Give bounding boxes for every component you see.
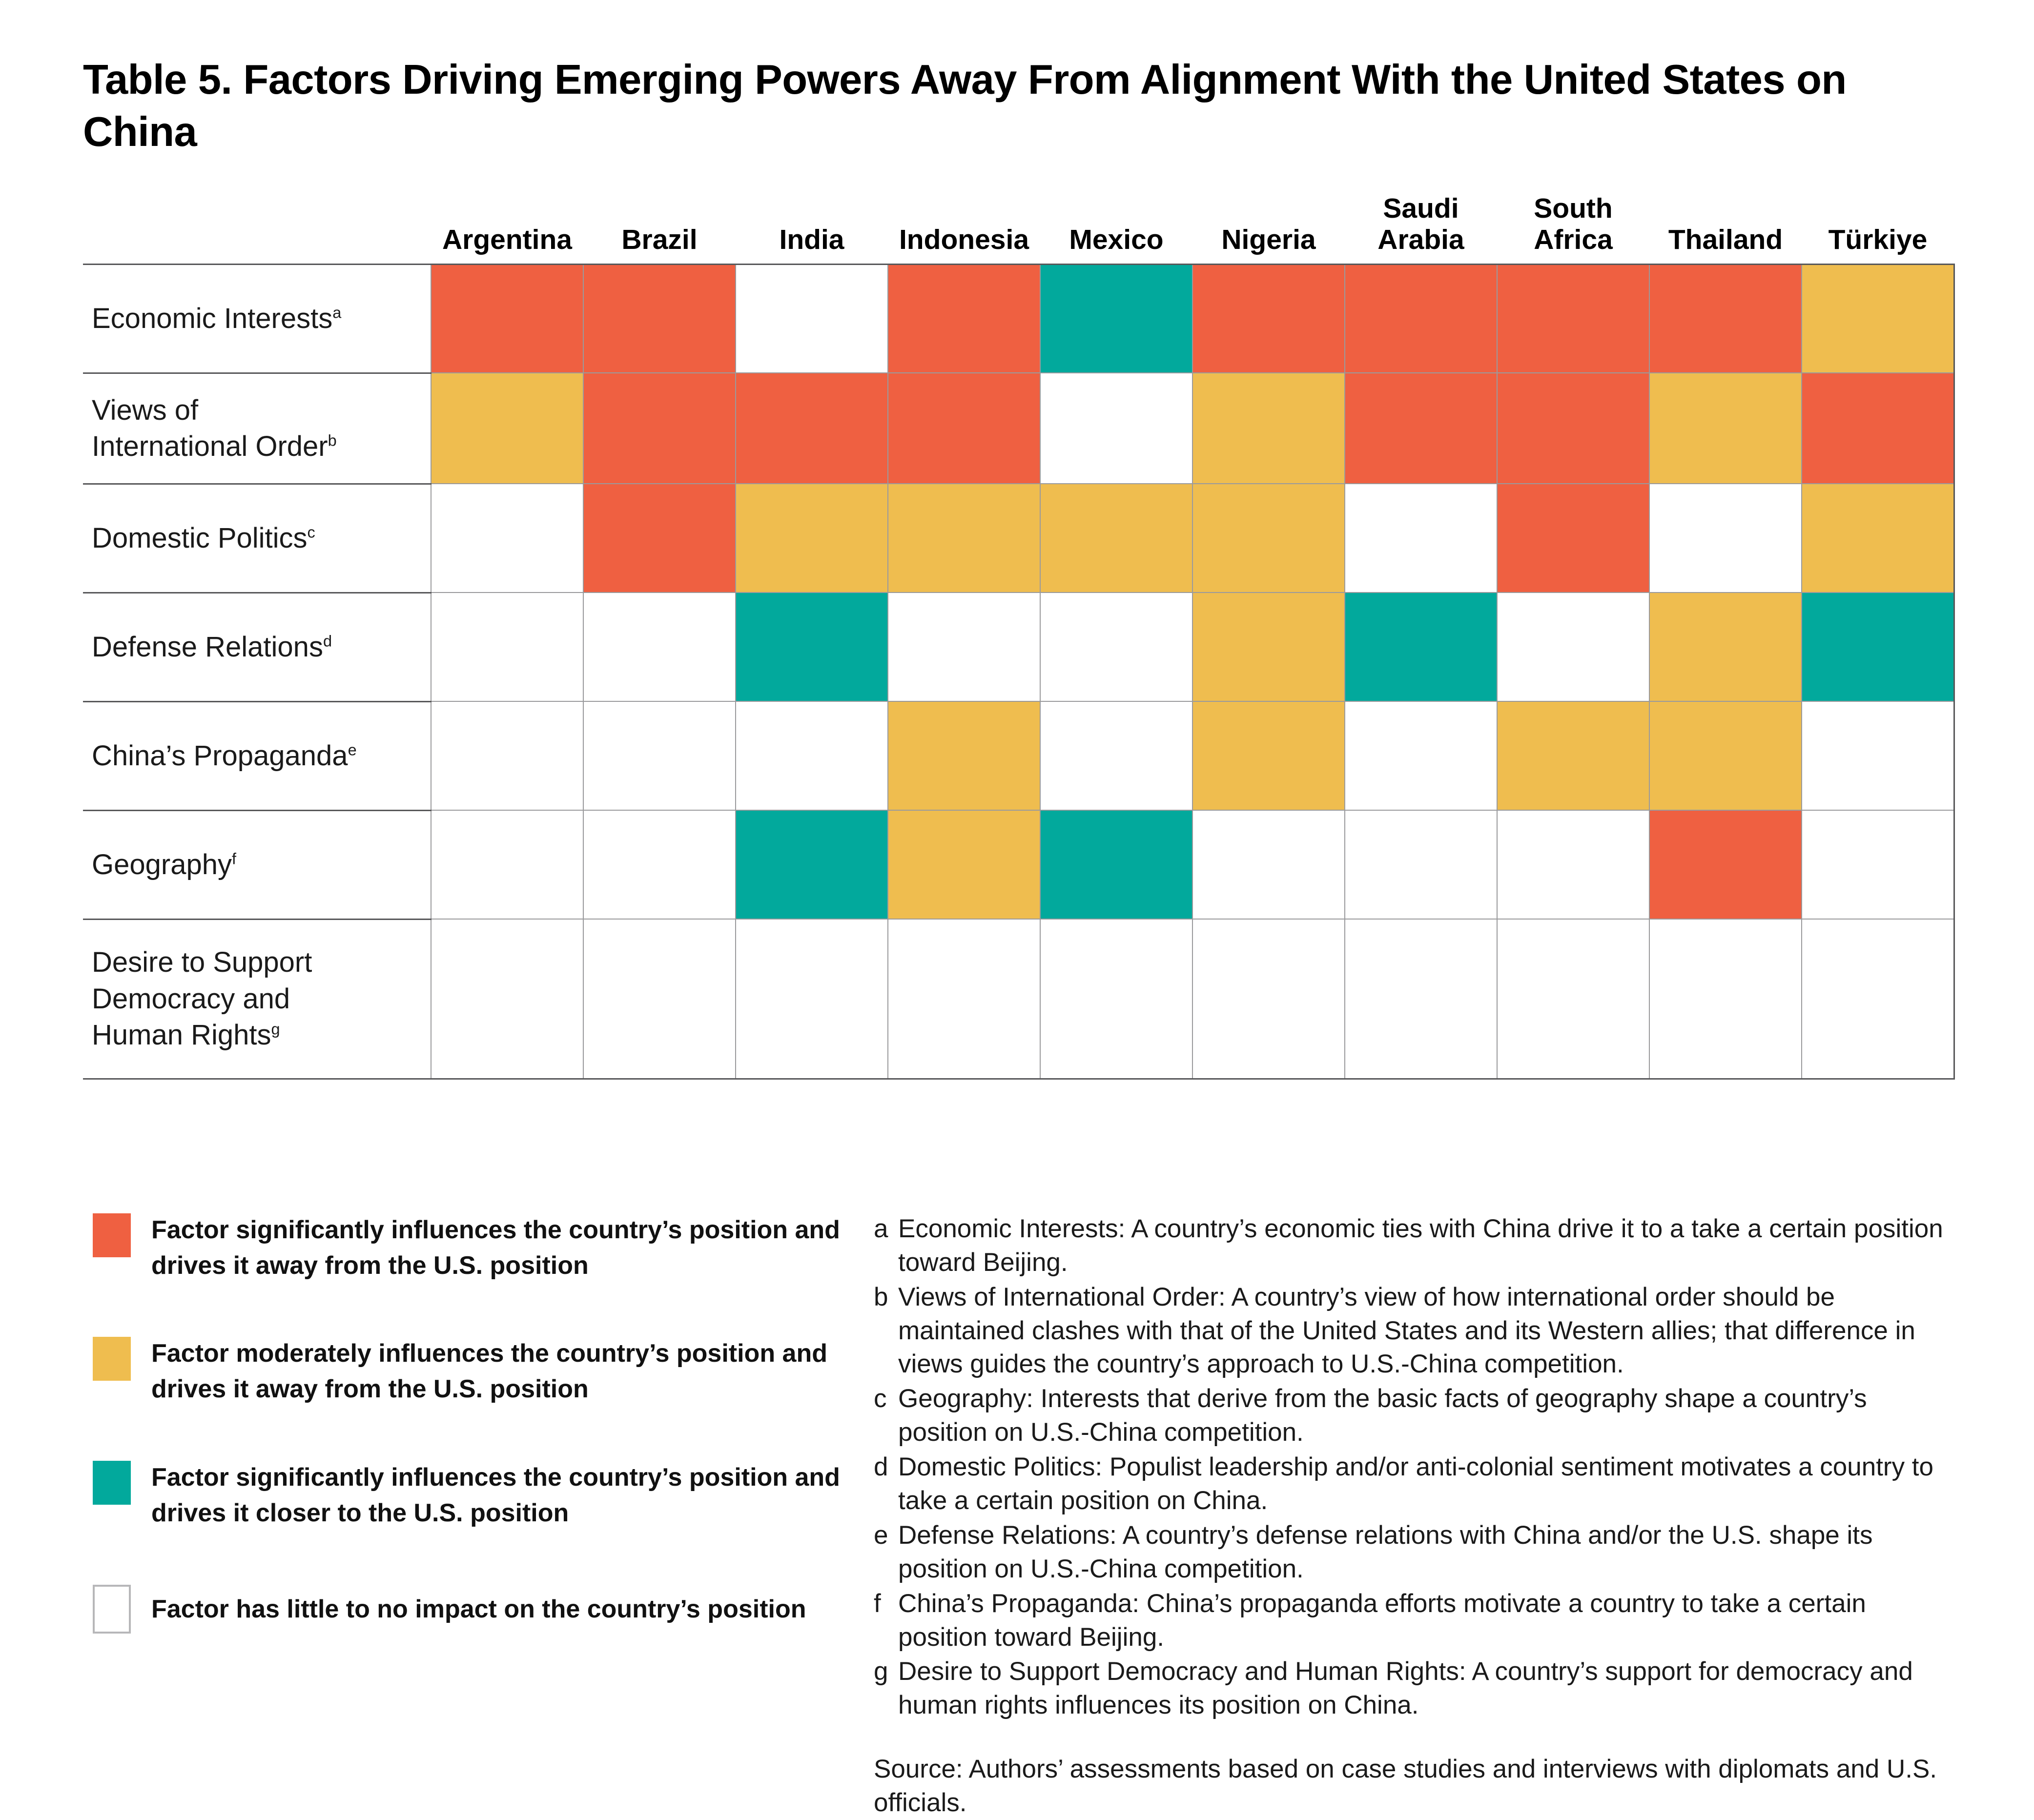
legend-item-significant-closer: Factor significantly influences the coun… bbox=[93, 1459, 844, 1531]
row-footnote-marker: e bbox=[348, 741, 357, 758]
legend-item-none: Factor has little to no impact on the co… bbox=[93, 1583, 844, 1634]
matrix-cell bbox=[1649, 810, 1802, 919]
matrix-cell bbox=[583, 701, 736, 810]
footnote-a: aEconomic Interests: A country’s economi… bbox=[874, 1212, 1951, 1280]
matrix-cell bbox=[1192, 919, 1345, 1079]
matrix-cell bbox=[888, 264, 1040, 373]
table-row: Views ofInternational Orderb bbox=[83, 373, 1954, 484]
header-corner bbox=[83, 193, 431, 264]
table-body: Economic InterestsaViews ofInternational… bbox=[83, 264, 1954, 1079]
footnote-text: Defense Relations: A country’s defense r… bbox=[898, 1519, 1951, 1586]
matrix-cell bbox=[736, 593, 888, 701]
matrix-cell bbox=[1497, 264, 1649, 373]
matrix-cell bbox=[1040, 701, 1192, 810]
matrix-cell bbox=[888, 919, 1040, 1079]
row-label-defense-relations: Defense Relationsd bbox=[83, 593, 431, 701]
row-footnote-marker: b bbox=[328, 432, 337, 450]
matrix-cell bbox=[1192, 264, 1345, 373]
matrix-cell bbox=[583, 919, 736, 1079]
matrix-cell bbox=[1497, 484, 1649, 593]
matrix-cell bbox=[1497, 373, 1649, 484]
table-row: Geographyf bbox=[83, 810, 1954, 919]
row-label-economic-interests: Economic Interestsa bbox=[83, 264, 431, 373]
lower-section: Factor significantly influences the coun… bbox=[83, 1211, 1951, 1820]
matrix-cell bbox=[1192, 484, 1345, 593]
matrix-cell bbox=[736, 373, 888, 484]
matrix-cell bbox=[888, 373, 1040, 484]
matrix-cell bbox=[583, 264, 736, 373]
matrix-cell bbox=[1192, 373, 1345, 484]
footnote-key: a bbox=[874, 1212, 898, 1280]
matrix-cell bbox=[1345, 810, 1497, 919]
row-footnote-marker: f bbox=[232, 850, 236, 867]
column-header-mexico: Mexico bbox=[1040, 193, 1192, 264]
matrix-cell bbox=[736, 264, 888, 373]
footnote-text: China’s Propaganda: China’s propaganda e… bbox=[898, 1587, 1951, 1655]
legend-swatch-none bbox=[93, 1585, 131, 1634]
legend-label: Factor significantly influences the coun… bbox=[151, 1459, 844, 1531]
matrix-cell bbox=[431, 919, 583, 1079]
matrix-cell bbox=[583, 593, 736, 701]
footnote-f: fChina’s Propaganda: China’s propaganda … bbox=[874, 1587, 1951, 1655]
row-label-desire-to-support: Desire to SupportDemocracy andHuman Righ… bbox=[83, 919, 431, 1079]
matrix-cell bbox=[1040, 264, 1192, 373]
footnote-text: Views of International Order: A country’… bbox=[898, 1281, 1951, 1382]
matrix-cell bbox=[736, 484, 888, 593]
footnote-g: gDesire to Support Democracy and Human R… bbox=[874, 1655, 1951, 1722]
footnote-text: Domestic Politics: Populist leadership a… bbox=[898, 1451, 1951, 1518]
matrix-cell bbox=[1345, 593, 1497, 701]
matrix-cell bbox=[1345, 484, 1497, 593]
matrix-cell bbox=[1345, 373, 1497, 484]
row-footnote-marker: c bbox=[308, 523, 315, 541]
footnote-key: c bbox=[874, 1382, 898, 1450]
table-row: Defense Relationsd bbox=[83, 593, 1954, 701]
row-label-views-of: Views ofInternational Orderb bbox=[83, 373, 431, 484]
row-label-domestic-politics: Domestic Politicsc bbox=[83, 484, 431, 593]
footnote-d: dDomestic Politics: Populist leadership … bbox=[874, 1451, 1951, 1518]
footnote-text: Desire to Support Democracy and Human Ri… bbox=[898, 1655, 1951, 1722]
matrix-cell bbox=[1040, 484, 1192, 593]
matrix-cell bbox=[1802, 264, 1954, 373]
matrix-cell bbox=[1802, 919, 1954, 1079]
matrix-cell bbox=[1649, 373, 1802, 484]
legend-label: Factor significantly influences the coun… bbox=[151, 1211, 844, 1284]
footnote-text: Geography: Interests that derive from th… bbox=[898, 1382, 1951, 1450]
matrix-cell bbox=[1497, 810, 1649, 919]
matrix-cell bbox=[888, 593, 1040, 701]
table-header: ArgentinaBrazilIndiaIndonesiaMexicoNiger… bbox=[83, 193, 1954, 264]
column-header-south-africa: South Africa bbox=[1497, 193, 1649, 264]
column-header-argentina: Argentina bbox=[431, 193, 583, 264]
footnotes: aEconomic Interests: A country’s economi… bbox=[844, 1211, 1951, 1820]
matrix-cell bbox=[1345, 264, 1497, 373]
matrix-cell bbox=[888, 701, 1040, 810]
matrix-cell bbox=[431, 593, 583, 701]
footnote-key: b bbox=[874, 1281, 898, 1382]
matrix-cell bbox=[1345, 919, 1497, 1079]
footnote-key: f bbox=[874, 1587, 898, 1655]
row-footnote-marker: a bbox=[332, 304, 341, 321]
matrix-cell bbox=[1802, 484, 1954, 593]
column-header-saudi-arabia: Saudi Arabia bbox=[1345, 193, 1497, 264]
footnote-e: eDefense Relations: A country’s defense … bbox=[874, 1519, 1951, 1586]
matrix-cell bbox=[736, 701, 888, 810]
matrix-cell bbox=[1649, 919, 1802, 1079]
matrix-cell bbox=[1345, 701, 1497, 810]
table-row: Domestic Politicsc bbox=[83, 484, 1954, 593]
footnote-key: e bbox=[874, 1519, 898, 1586]
legend-label: Factor moderately influences the country… bbox=[151, 1335, 844, 1407]
column-header-nigeria: Nigeria bbox=[1192, 193, 1345, 264]
legend-item-significant-away: Factor significantly influences the coun… bbox=[93, 1211, 844, 1284]
matrix-cell bbox=[431, 373, 583, 484]
row-label-geography: Geographyf bbox=[83, 810, 431, 919]
matrix-cell bbox=[1192, 701, 1345, 810]
footnote-key: g bbox=[874, 1655, 898, 1722]
matrix-cell bbox=[583, 810, 736, 919]
matrix-cell bbox=[1649, 701, 1802, 810]
column-header-india: India bbox=[736, 193, 888, 264]
footnote-text: Economic Interests: A country’s economic… bbox=[898, 1212, 1951, 1280]
table-row: Desire to SupportDemocracy andHuman Righ… bbox=[83, 919, 1954, 1079]
matrix-cell bbox=[736, 810, 888, 919]
matrix-cell bbox=[1040, 810, 1192, 919]
table-row: China’s Propagandae bbox=[83, 701, 1954, 810]
legend-label: Factor has little to no impact on the co… bbox=[151, 1583, 806, 1627]
matrix-cell bbox=[431, 810, 583, 919]
column-header-thailand: Thailand bbox=[1649, 193, 1802, 264]
row-footnote-marker: g bbox=[271, 1021, 280, 1038]
matrix-cell bbox=[1802, 373, 1954, 484]
factors-matrix-table: ArgentinaBrazilIndiaIndonesiaMexicoNiger… bbox=[83, 193, 1955, 1080]
matrix-cell bbox=[431, 264, 583, 373]
table-page: Table 5. Factors Driving Emerging Powers… bbox=[0, 0, 2034, 1734]
matrix-cell bbox=[1649, 484, 1802, 593]
column-header-indonesia: Indonesia bbox=[888, 193, 1040, 264]
matrix-cell bbox=[1040, 593, 1192, 701]
legend-swatch-significant-closer bbox=[93, 1461, 131, 1505]
legend-swatch-significant-away bbox=[93, 1213, 131, 1257]
matrix-cell bbox=[736, 919, 888, 1079]
footnote-b: bViews of International Order: A country… bbox=[874, 1281, 1951, 1382]
column-header-brazil: Brazil bbox=[583, 193, 736, 264]
page-title: Table 5. Factors Driving Emerging Powers… bbox=[83, 54, 1918, 158]
matrix-cell bbox=[888, 484, 1040, 593]
matrix-cell bbox=[1040, 919, 1192, 1079]
matrix-cell bbox=[1649, 593, 1802, 701]
footnote-key: d bbox=[874, 1451, 898, 1518]
matrix-cell bbox=[1802, 701, 1954, 810]
row-label-china’s-propaganda: China’s Propagandae bbox=[83, 701, 431, 810]
matrix-cell bbox=[583, 373, 736, 484]
matrix-cell bbox=[1040, 373, 1192, 484]
matrix-cell bbox=[583, 484, 736, 593]
legend-item-moderate-away: Factor moderately influences the country… bbox=[93, 1335, 844, 1407]
matrix-cell bbox=[1802, 593, 1954, 701]
matrix-cell bbox=[1192, 810, 1345, 919]
header-row: ArgentinaBrazilIndiaIndonesiaMexicoNiger… bbox=[83, 193, 1954, 264]
matrix-cell bbox=[431, 701, 583, 810]
matrix-cell bbox=[888, 810, 1040, 919]
matrix-cell bbox=[1192, 593, 1345, 701]
row-footnote-marker: d bbox=[323, 632, 332, 650]
legend: Factor significantly influences the coun… bbox=[83, 1211, 844, 1634]
matrix-cell bbox=[1497, 701, 1649, 810]
matrix-cell bbox=[431, 484, 583, 593]
column-header-türkiye: Türkiye bbox=[1802, 193, 1954, 264]
matrix-cell bbox=[1802, 810, 1954, 919]
table-row: Economic Interestsa bbox=[83, 264, 1954, 373]
matrix-cell bbox=[1497, 919, 1649, 1079]
footnote-c: cGeography: Interests that derive from t… bbox=[874, 1382, 1951, 1450]
source-note: Source: Authors’ assessments based on ca… bbox=[874, 1753, 1951, 1820]
matrix-cell bbox=[1497, 593, 1649, 701]
matrix-cell bbox=[1649, 264, 1802, 373]
legend-swatch-moderate-away bbox=[93, 1337, 131, 1381]
